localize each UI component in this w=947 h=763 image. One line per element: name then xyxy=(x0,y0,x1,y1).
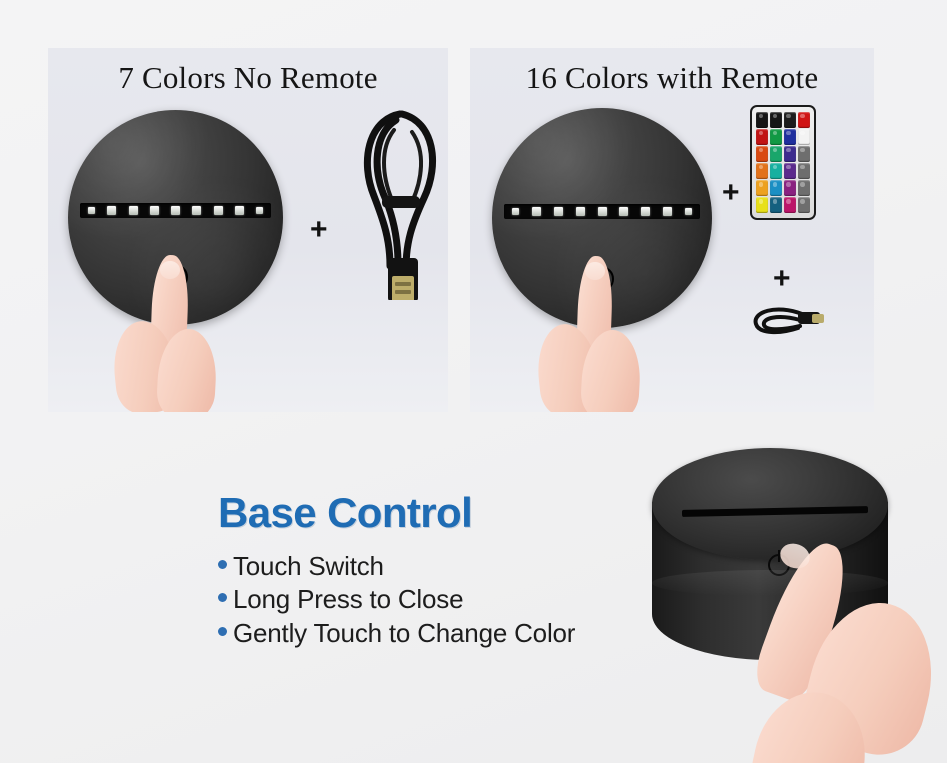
ir-remote-control[interactable] xyxy=(750,105,816,220)
led-chip xyxy=(576,207,585,216)
led-chip xyxy=(512,208,519,215)
plus-separator-left: + xyxy=(310,215,328,245)
led-chip xyxy=(235,206,244,215)
remote-button-3[interactable] xyxy=(784,112,796,128)
remote-button-7[interactable] xyxy=(784,129,796,145)
remote-button-grid xyxy=(756,112,810,213)
hand-knuckle xyxy=(156,328,219,412)
hand-knuckle xyxy=(533,321,602,412)
led-strip-slot xyxy=(80,203,271,218)
plus-separator-right-2: + xyxy=(773,264,791,294)
led-chip xyxy=(554,207,563,216)
bullet-dot-icon xyxy=(218,627,227,636)
remote-button-11[interactable] xyxy=(784,146,796,162)
remote-button-17[interactable] xyxy=(756,180,768,196)
feature-list-item: Long Press to Close xyxy=(218,583,638,616)
led-chip xyxy=(598,207,607,216)
panel-7-colors-no-remote: 7 Colors No Remote + xyxy=(48,48,448,412)
remote-button-20[interactable] xyxy=(798,180,810,196)
led-chip xyxy=(619,207,628,216)
panel-title-left: 7 Colors No Remote xyxy=(48,60,448,96)
led-chip xyxy=(663,207,672,216)
hand-knuckle xyxy=(745,682,878,763)
remote-button-21[interactable] xyxy=(756,197,768,213)
lamp-base-disc-left xyxy=(68,110,283,325)
power-touch-key-icon[interactable] xyxy=(588,266,614,292)
cylinder-seam xyxy=(652,570,888,596)
remote-button-16[interactable] xyxy=(798,163,810,179)
panel-16-colors-with-remote: 16 Colors with Remote xyxy=(470,48,874,412)
base-control-copy: Base Control Touch SwitchLong Press to C… xyxy=(218,492,638,650)
usb-cable-right xyxy=(746,300,830,344)
comparison-panels: 7 Colors No Remote + xyxy=(0,0,947,420)
led-chip xyxy=(256,207,263,214)
led-chip xyxy=(107,206,116,215)
lamp-base-disc-right xyxy=(492,108,712,328)
feature-label: Touch Switch xyxy=(233,550,384,583)
hand-knuckle xyxy=(580,329,643,412)
remote-button-12[interactable] xyxy=(798,146,810,162)
feature-label: Gently Touch to Change Color xyxy=(233,617,575,650)
led-chip xyxy=(685,208,692,215)
feature-list-item: Gently Touch to Change Color xyxy=(218,617,638,650)
power-touch-key-icon[interactable] xyxy=(162,264,188,290)
remote-button-24[interactable] xyxy=(798,197,810,213)
hand-knuckle xyxy=(109,318,180,412)
remote-button-23[interactable] xyxy=(784,197,796,213)
lamp-base-top-surface xyxy=(652,448,888,560)
plus-separator-right-1: + xyxy=(722,178,740,208)
hero-product-image xyxy=(640,432,947,763)
feature-label: Long Press to Close xyxy=(233,583,463,616)
bullet-dot-icon xyxy=(218,560,227,569)
bullet-dot-icon xyxy=(218,593,227,602)
remote-button-19[interactable] xyxy=(784,180,796,196)
feature-list: Touch SwitchLong Press to CloseGently To… xyxy=(218,550,638,650)
remote-button-13[interactable] xyxy=(756,163,768,179)
page-title: Base Control xyxy=(218,492,638,534)
remote-button-10[interactable] xyxy=(770,146,782,162)
remote-button-9[interactable] xyxy=(756,146,768,162)
remote-button-6[interactable] xyxy=(770,129,782,145)
usb-cable-left xyxy=(344,100,448,300)
led-chip xyxy=(192,206,201,215)
remote-button-1[interactable] xyxy=(756,112,768,128)
led-chip xyxy=(150,206,159,215)
feature-list-item: Touch Switch xyxy=(218,550,638,583)
led-chip xyxy=(88,207,95,214)
led-strip-slot xyxy=(504,204,700,219)
led-chip xyxy=(532,207,541,216)
remote-button-18[interactable] xyxy=(770,180,782,196)
led-chip xyxy=(641,207,650,216)
remote-button-15[interactable] xyxy=(784,163,796,179)
panel-title-right: 16 Colors with Remote xyxy=(470,60,874,96)
remote-button-14[interactable] xyxy=(770,163,782,179)
led-chip xyxy=(214,206,223,215)
remote-button-4[interactable] xyxy=(798,112,810,128)
remote-button-22[interactable] xyxy=(770,197,782,213)
remote-button-2[interactable] xyxy=(770,112,782,128)
led-chip xyxy=(129,206,138,215)
base-control-section: Base Control Touch SwitchLong Press to C… xyxy=(0,420,947,763)
remote-button-5[interactable] xyxy=(756,129,768,145)
led-chip xyxy=(171,206,180,215)
remote-button-8[interactable] xyxy=(798,129,810,145)
